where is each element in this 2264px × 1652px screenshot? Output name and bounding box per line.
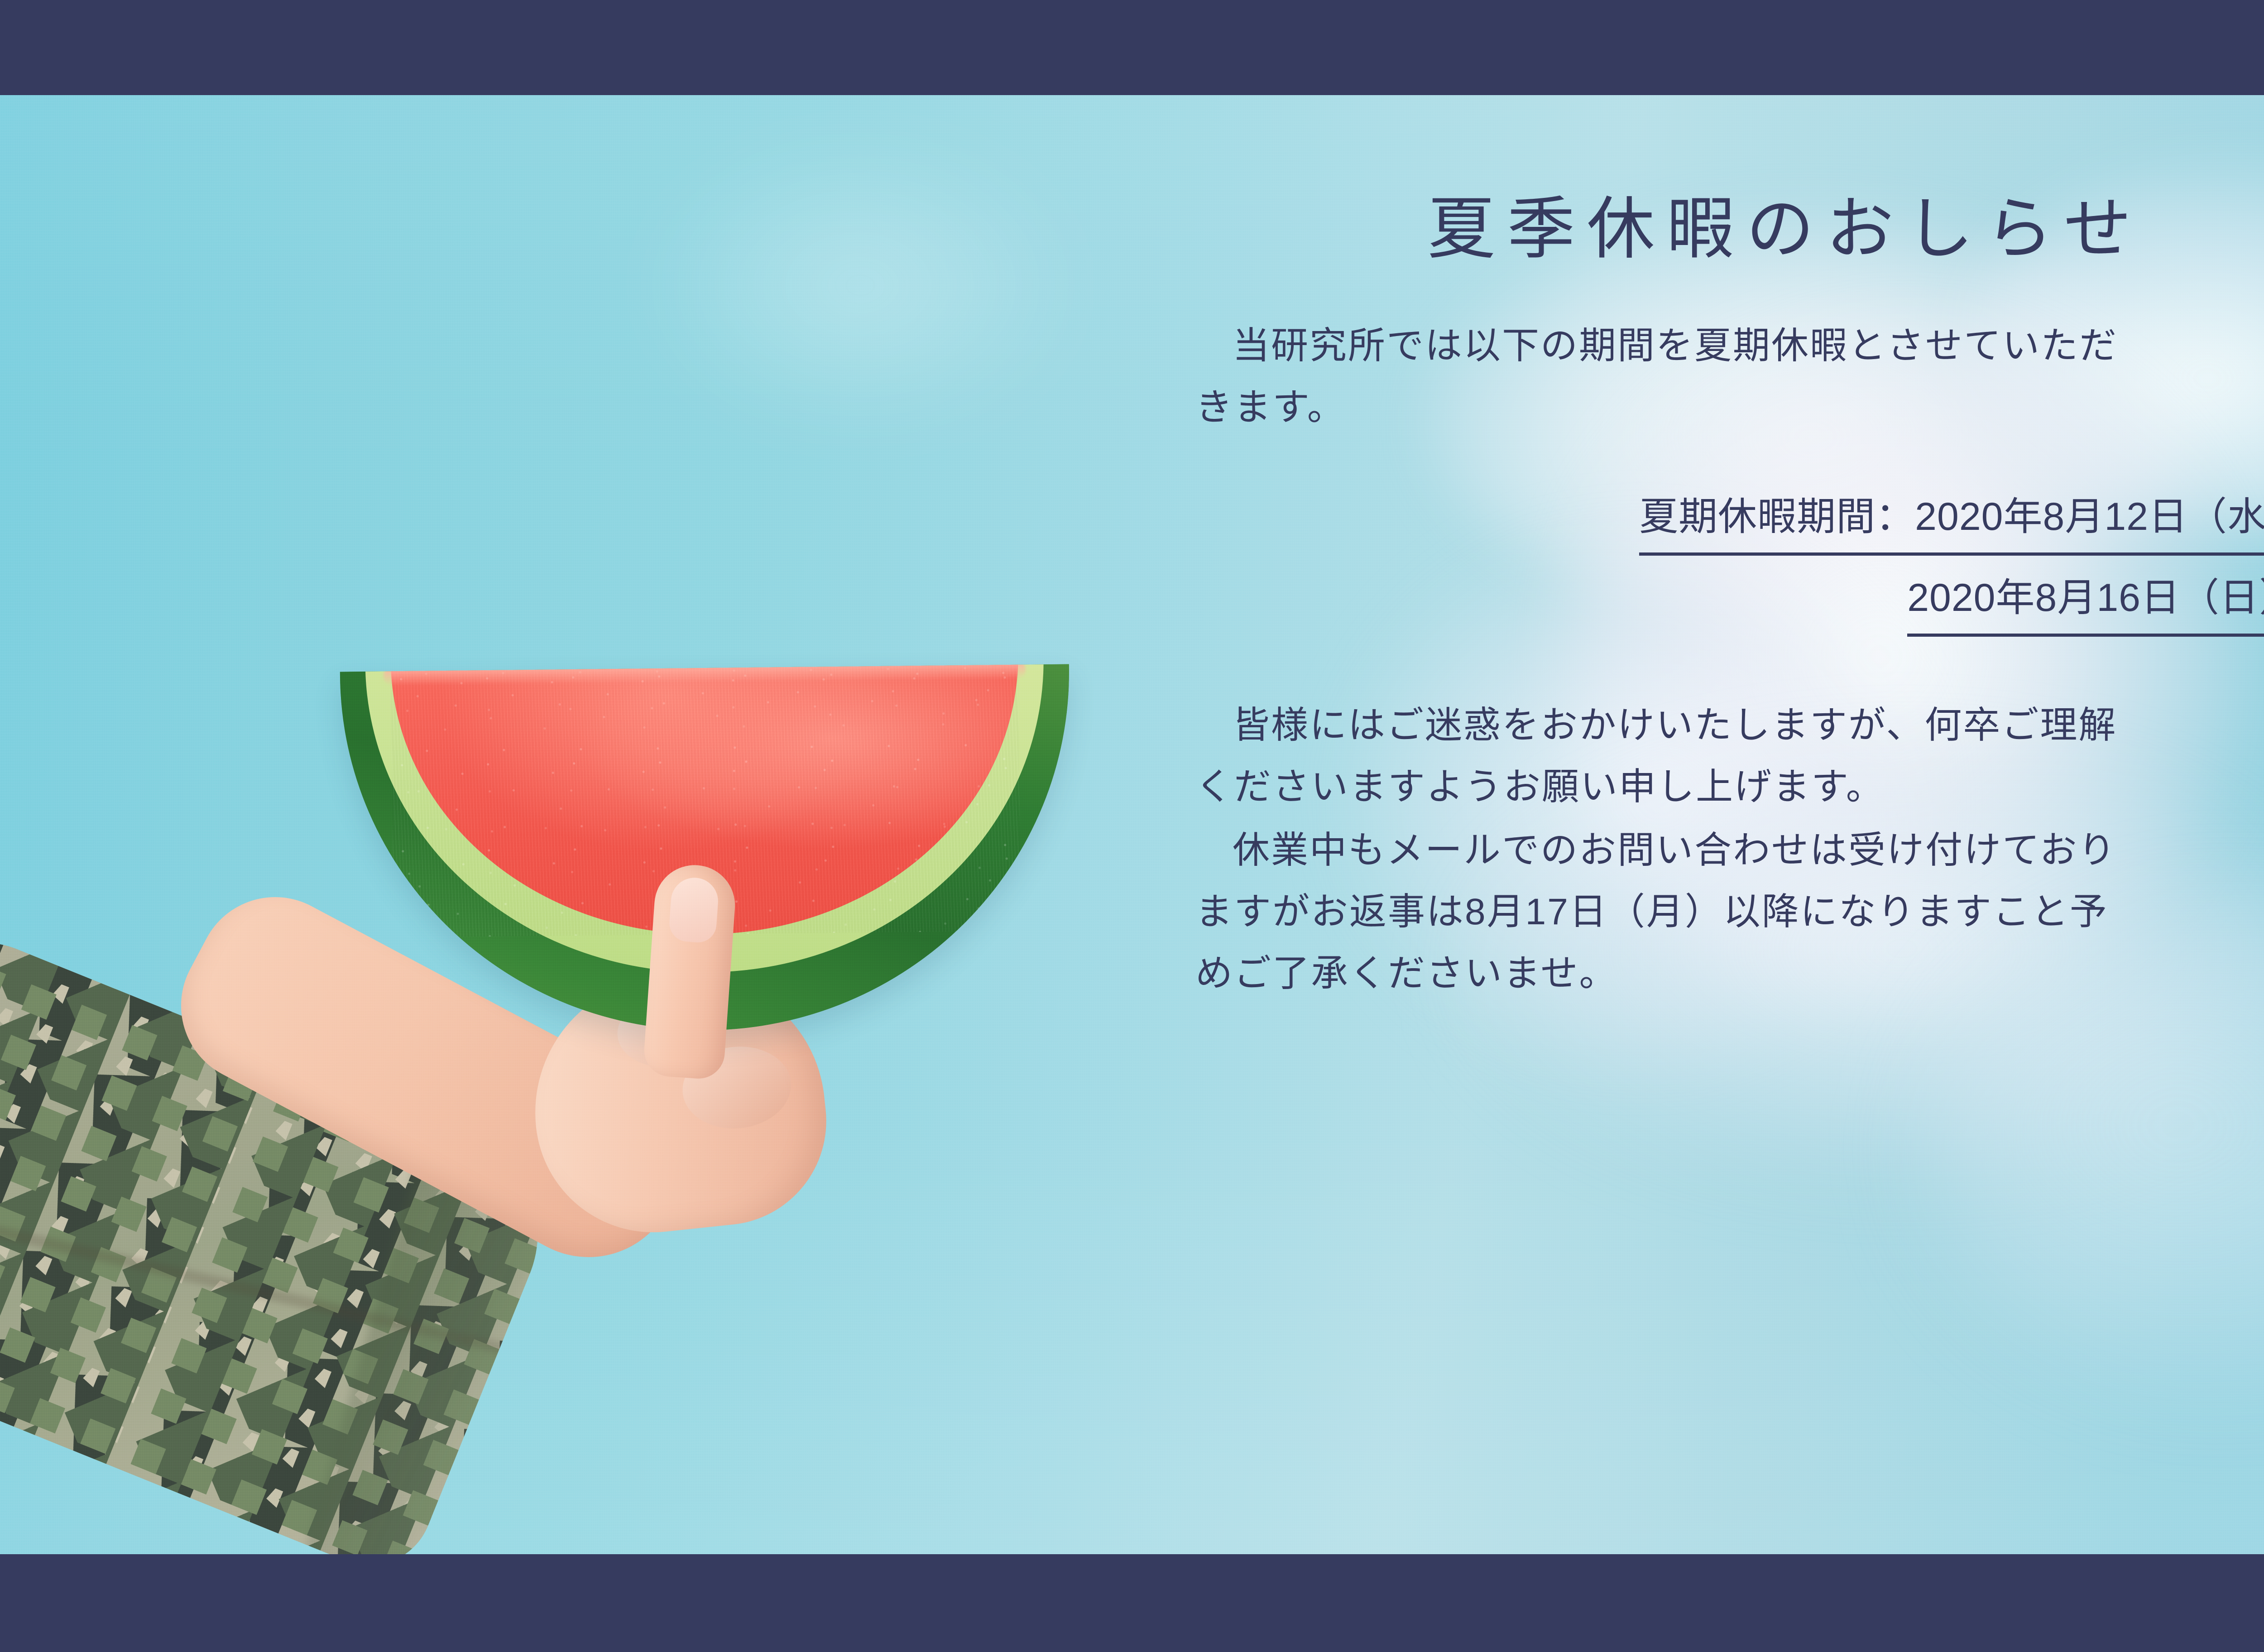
period-line-2: 2020年8月16日（日）	[1907, 567, 2264, 637]
sleeve-cuff	[296, 1107, 564, 1554]
knuckle	[614, 989, 725, 1072]
notice-text-column: 夏季休暇のおしらせ 当研究所では以下の期間を夏期休暇とさせていただ きます。 夏…	[1195, 149, 2264, 1005]
apology-line-2: くださいますようお願い申し上げます。	[1195, 766, 1885, 807]
watermelon-flesh	[391, 664, 1021, 938]
thumbnail	[668, 876, 720, 944]
intro-line-1: 当研究所では以下の期間を夏期休暇とさせていただ	[1195, 325, 2118, 366]
email-line-2: ますがお返事は8月17日（月）以降になりますこと予	[1195, 891, 2108, 932]
holiday-period-block: 夏期休暇期間：2020年8月12日（水）〜 2020年8月16日（日）	[1195, 486, 2264, 637]
sleeve-fold	[0, 1173, 571, 1383]
period-line-1: 夏期休暇期間：2020年8月12日（水）〜	[1639, 486, 2264, 556]
watermelon-hand-photo	[0, 95, 1177, 1554]
bottom-navy-band	[0, 1554, 2264, 1652]
page-title: 夏季休暇のおしらせ	[1195, 189, 2264, 268]
knuckle	[678, 1041, 795, 1133]
email-paragraph: 休業中もメールでのお問い合わせは受け付けており ますがお返事は8月17日（月）以…	[1195, 820, 2264, 1004]
watermelon-cut-edge	[384, 664, 1026, 686]
summer-holiday-notice-poster: 夏季休暇のおしらせ 当研究所では以下の期間を夏期休暇とさせていただ きます。 夏…	[0, 0, 2264, 1652]
period-line-2-wrap: 2020年8月16日（日）	[1195, 567, 2264, 637]
watermelon-rind-light	[365, 664, 1047, 976]
top-navy-band	[0, 0, 2264, 95]
email-line-1: 休業中もメールでのお問い合わせは受け付けており	[1195, 830, 2117, 871]
thumb	[643, 862, 738, 1080]
watermelon-rind-dark	[340, 664, 1073, 1034]
intro-line-2: きます。	[1195, 387, 1346, 428]
email-line-3: めご了承くださいませ。	[1195, 953, 1618, 994]
camouflage-sleeve	[0, 918, 571, 1554]
apology-line-1: 皆様にはご迷惑をおかけいたしますが、何卒ご理解	[1195, 705, 2117, 746]
camouflage-pattern	[0, 918, 571, 1554]
period-line-1-wrap: 夏期休暇期間：2020年8月12日（水）〜	[1195, 486, 2264, 556]
intro-paragraph: 当研究所では以下の期間を夏期休暇とさせていただ きます。	[1195, 315, 2264, 438]
apology-paragraph: 皆様にはご迷惑をおかけいたしますが、何卒ご理解 くださいますようお願い申し上げま…	[1195, 695, 2264, 818]
forearm	[154, 870, 715, 1289]
watermelon-slice	[340, 664, 1073, 1034]
fist	[522, 961, 836, 1244]
cloud-wisp-left	[657, 149, 1064, 421]
